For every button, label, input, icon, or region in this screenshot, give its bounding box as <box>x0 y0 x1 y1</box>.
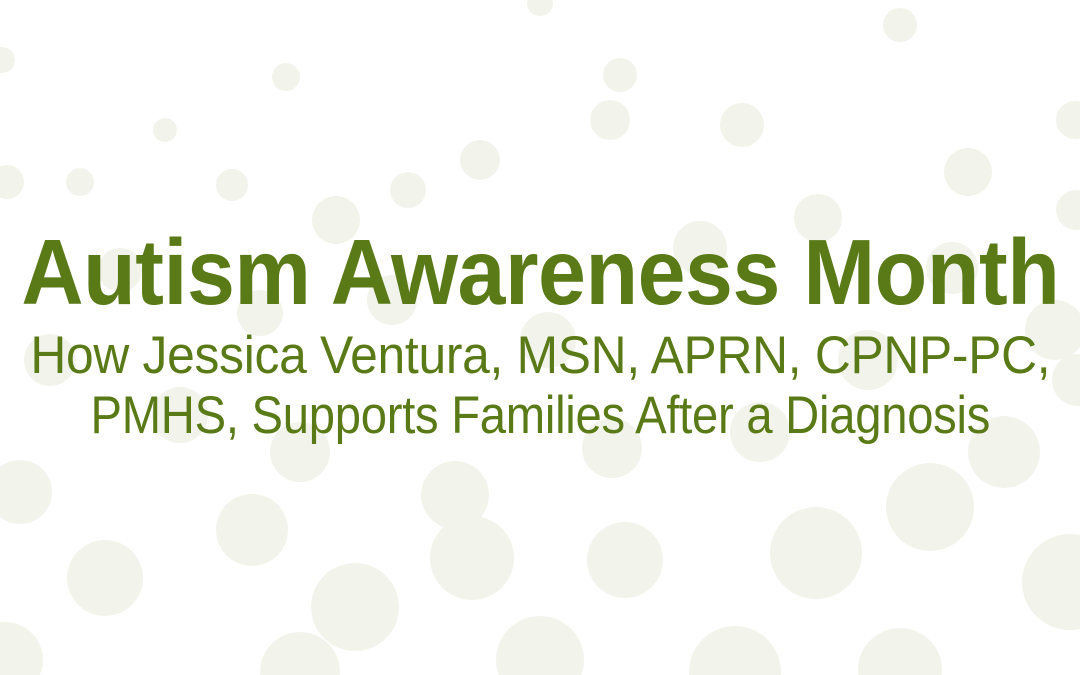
page-title: Autism Awareness Month <box>21 228 1059 317</box>
page-subtitle-line-2: PMHS, Supports Families After a Diagnosi… <box>56 386 1024 446</box>
banner-text-block: Autism Awareness Month How Jessica Ventu… <box>0 0 1080 675</box>
page-subtitle: How Jessica Ventura, MSN, APRN, CPNP-PC,… <box>0 326 1080 447</box>
autism-awareness-banner: Autism Awareness Month How Jessica Ventu… <box>0 0 1080 675</box>
page-subtitle-line-1: How Jessica Ventura, MSN, APRN, CPNP-PC, <box>30 326 1050 386</box>
